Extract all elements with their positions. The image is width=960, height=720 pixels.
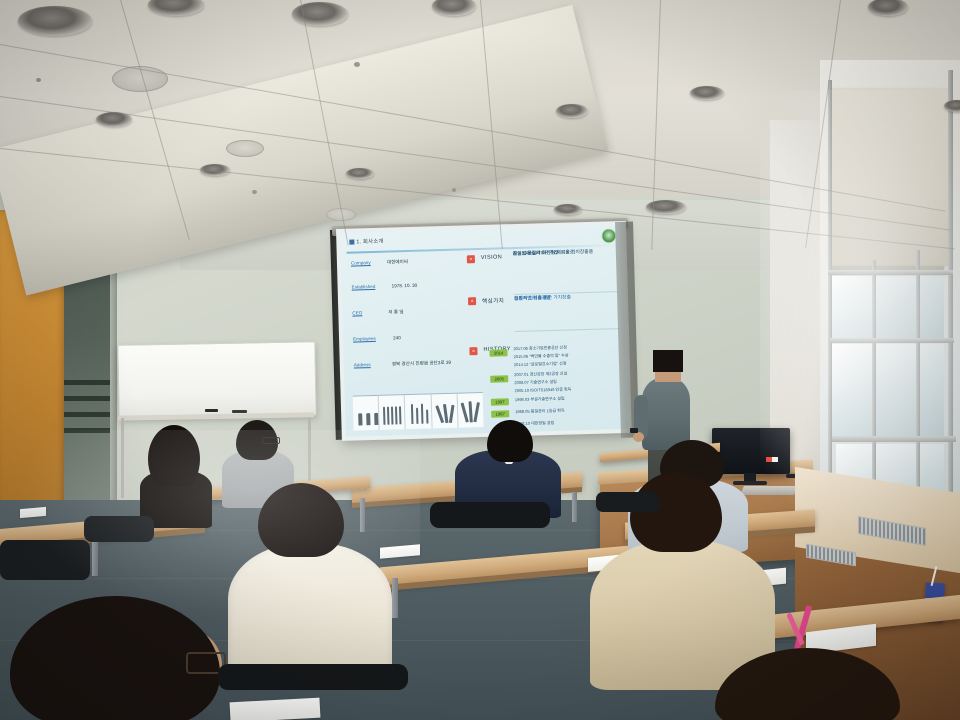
door-frosted-stripe bbox=[64, 412, 112, 417]
chair-back[interactable] bbox=[0, 540, 90, 580]
product-cell bbox=[457, 393, 483, 428]
product-photo-strip bbox=[353, 392, 484, 431]
section-marker-vision: » bbox=[467, 255, 475, 263]
history-date-chip: 2014 bbox=[489, 349, 507, 356]
product-cell bbox=[431, 394, 458, 429]
door-frosted-stripe bbox=[64, 380, 112, 385]
keyboard[interactable] bbox=[740, 486, 798, 495]
window-mullion bbox=[948, 70, 953, 550]
chair-back[interactable] bbox=[218, 664, 408, 690]
info-label-address: Address bbox=[354, 362, 371, 367]
history-date-chip: 1997 bbox=[491, 398, 509, 405]
history-line: 2015.06 "백만불 수출의 탑" 수상 bbox=[514, 353, 569, 361]
history-line: 2014.12 "글로벌강소기업" 선정 bbox=[514, 361, 567, 368]
downlight-icon bbox=[18, 6, 92, 36]
whiteboard-stand-leg bbox=[121, 418, 124, 498]
info-label-ceo: CEO bbox=[352, 310, 362, 315]
section-title-values: 핵심가치 bbox=[482, 296, 504, 305]
slide-header-title: 1. 회사소개 bbox=[356, 237, 383, 246]
info-label-company: Company bbox=[351, 260, 371, 266]
door-frosted-stripe bbox=[64, 396, 112, 401]
history-date-chip: 2005 bbox=[490, 375, 508, 382]
history-line: 1998.03 부설기술연구소 설립 bbox=[515, 396, 565, 403]
desk-leg bbox=[92, 540, 98, 576]
product-cell bbox=[379, 395, 406, 430]
info-value-employees: 240 bbox=[393, 335, 401, 340]
whiteboard-marker[interactable] bbox=[232, 410, 247, 413]
downlight-icon bbox=[690, 86, 724, 100]
projection-screen[interactable]: 1. 회사소개 Company 대한에이씨 Established 1978. … bbox=[336, 221, 632, 441]
window-glass-middle bbox=[832, 344, 944, 440]
whiteboard[interactable] bbox=[117, 341, 316, 418]
presenter-hand bbox=[633, 432, 644, 442]
window-transom bbox=[830, 338, 954, 343]
vision-text-box: 최고의 품질과 혁신적인 기술로, 끊임없이 앞서 나가는 새로운 가치창출을 … bbox=[513, 247, 618, 290]
presenter-torso bbox=[642, 378, 690, 450]
section-title-vision: VISION bbox=[481, 254, 503, 261]
sprinkler-icon bbox=[36, 78, 41, 82]
history-line: 2007.01 경산공장 제2공장 신설 bbox=[514, 371, 567, 378]
info-value-address: 경북 경산시 진량읍 공단3로 39 bbox=[392, 360, 451, 368]
seminar-room-photo: 1. 회사소개 Company 대한에이씨 Established 1978. … bbox=[0, 0, 960, 720]
chair-back[interactable] bbox=[430, 502, 550, 528]
sprinkler-icon bbox=[452, 188, 456, 192]
section-marker-history: » bbox=[469, 347, 477, 355]
history-line: 2017.06 중소기업진흥공단 선정 bbox=[513, 345, 567, 352]
info-value-established: 1978. 10. 30 bbox=[392, 283, 418, 289]
window-transom bbox=[828, 270, 953, 275]
window-transom bbox=[832, 436, 956, 442]
product-cell bbox=[353, 396, 380, 431]
attendee-4-torso bbox=[228, 543, 392, 683]
chair-back[interactable] bbox=[596, 492, 660, 512]
attendee-2-glasses bbox=[262, 437, 280, 444]
sprinkler-icon bbox=[252, 190, 257, 194]
history-date-chip: 1987 bbox=[491, 410, 509, 417]
info-value-company: 대한에이씨 bbox=[387, 259, 408, 266]
attendee-1-hair bbox=[148, 425, 200, 487]
core-values-box: 합리적인 신뢰경영 혁신적인 기술개발 소통과 협력을 통한 가치창출 bbox=[514, 291, 619, 332]
paper-sheet[interactable] bbox=[230, 698, 321, 720]
history-line: 2005.10 ISO/TS16949 인증 획득 bbox=[515, 386, 572, 394]
slide-title-bullet-icon bbox=[349, 239, 354, 244]
value-line: 소통과 협력을 통한 가치창출 bbox=[514, 293, 571, 302]
chair-back[interactable] bbox=[84, 516, 154, 542]
monitor-badge-icon bbox=[766, 457, 778, 462]
history-line: 2006.07 기술연구소 설립 bbox=[514, 379, 557, 386]
roller-blind-upper[interactable] bbox=[830, 88, 948, 266]
downlight-icon bbox=[346, 168, 374, 179]
attendee-3-hair bbox=[487, 420, 533, 462]
presenter-hair bbox=[653, 350, 683, 372]
company-logo-icon bbox=[601, 228, 616, 243]
info-label-employees: Employees bbox=[353, 336, 376, 342]
desk-leg bbox=[360, 498, 365, 532]
slide: 1. 회사소개 Company 대한에이씨 Established 1978. … bbox=[340, 225, 628, 437]
section-marker-values: » bbox=[468, 297, 476, 305]
vision-line: 하는 Global TOP 기업 bbox=[513, 249, 558, 257]
info-value-ceo: 저 홍 일 bbox=[388, 309, 403, 315]
presentation-remote[interactable] bbox=[630, 428, 638, 433]
whiteboard-stand-leg bbox=[308, 418, 311, 490]
desk-leg bbox=[572, 492, 577, 522]
door-frosted-stripe bbox=[64, 428, 112, 433]
desk-leg bbox=[392, 578, 398, 618]
monitor-base bbox=[733, 481, 767, 485]
sprinkler-icon bbox=[354, 62, 360, 67]
whiteboard-marker[interactable] bbox=[205, 409, 218, 412]
downlight-icon bbox=[556, 104, 588, 118]
window-glass-upper bbox=[832, 276, 944, 340]
history-line: 1988.05 품질관리 1등급 획득 bbox=[515, 408, 565, 415]
ceiling-speaker-icon bbox=[226, 140, 264, 157]
product-cell bbox=[405, 394, 432, 429]
info-label-established: Established bbox=[352, 284, 376, 290]
